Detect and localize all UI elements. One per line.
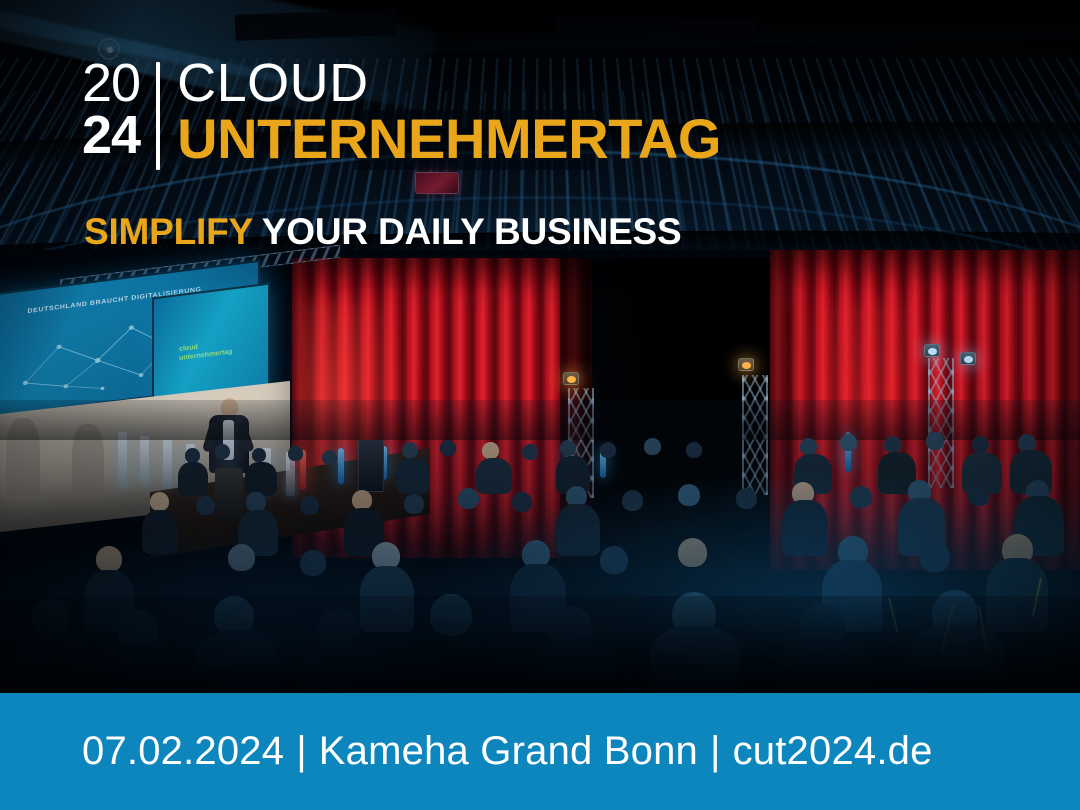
- logo-divider: [156, 62, 160, 170]
- poster-text-overlay: 20 24 CLOUD UNTERNEHMERTAG SIMPLIFY YOUR…: [0, 0, 1080, 693]
- logo-year-bottom: 24: [82, 110, 140, 161]
- footer-separator: |: [284, 729, 319, 773]
- tagline-rest: YOUR DAILY BUSINESS: [252, 211, 681, 252]
- tagline-highlight: SIMPLIFY: [84, 211, 252, 252]
- footer-date: 07.02.2024: [82, 729, 284, 773]
- logo-word-column: CLOUD UNTERNEHMERTAG: [177, 58, 721, 166]
- footer-separator: |: [698, 729, 733, 773]
- logo-word-unternehmertag: UNTERNEHMERTAG: [177, 112, 721, 166]
- footer-website-link[interactable]: cut2024.de: [733, 729, 933, 773]
- logo-word-cloud: CLOUD: [177, 58, 721, 110]
- event-poster: DEUTSCHLAND BRAUCHT DIGITALISIERUNG clou…: [0, 0, 1080, 810]
- poster-tagline: SIMPLIFY YOUR DAILY BUSINESS: [84, 211, 682, 253]
- logo-year-column: 20 24: [82, 58, 140, 162]
- event-logo: 20 24 CLOUD UNTERNEHMERTAG: [82, 58, 721, 170]
- footer-bar: 07.02.2024|Kameha Grand Bonn|cut2024.de: [0, 693, 1080, 810]
- logo-year-top: 20: [82, 58, 140, 109]
- footer-venue: Kameha Grand Bonn: [319, 729, 698, 773]
- footer-info: 07.02.2024|Kameha Grand Bonn|cut2024.de: [82, 729, 933, 774]
